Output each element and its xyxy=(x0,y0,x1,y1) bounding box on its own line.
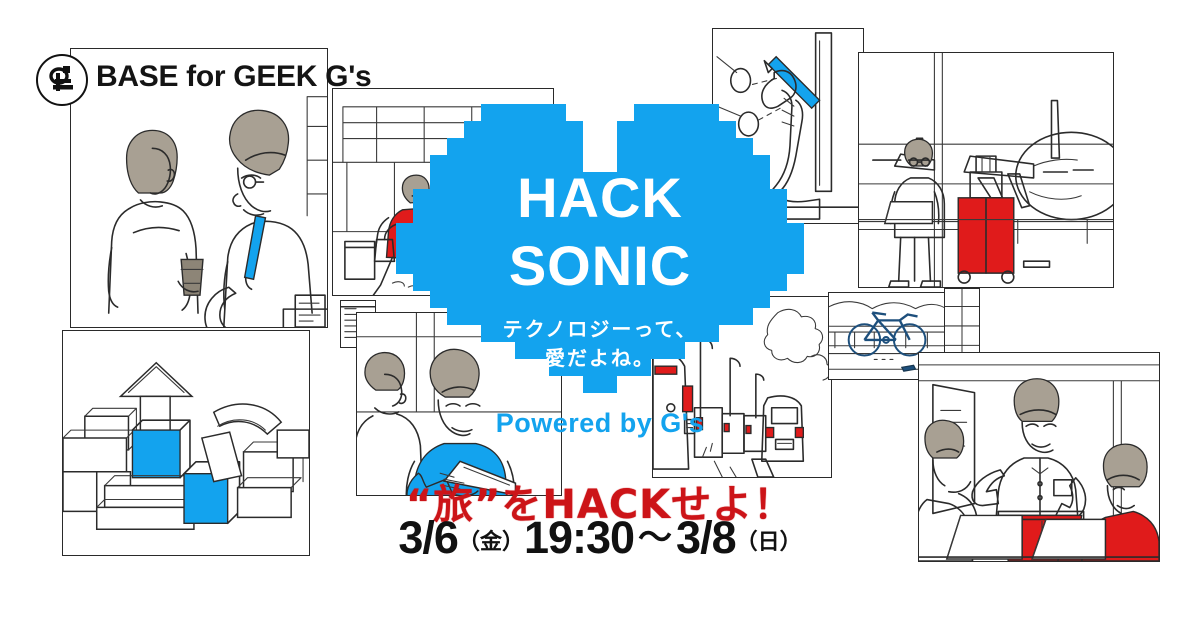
start-day: （金） xyxy=(458,530,524,555)
person-walking-illustration xyxy=(333,89,553,295)
gs-logo-icon xyxy=(45,63,79,97)
tile-traffic-jam xyxy=(652,296,832,478)
traffic-jam-illustration xyxy=(653,297,831,477)
start-time: 19:30 xyxy=(524,512,634,563)
poster-canvas: BASE for GEEK G's xyxy=(0,0,1200,630)
tile-shelf-panel xyxy=(944,288,980,360)
schedule-bar: 3/6（金）19:30〜3/8（日） xyxy=(0,512,1200,564)
shelf-panel-illustration xyxy=(945,289,979,359)
pair-programming-illustration xyxy=(357,313,561,495)
base-title: BASE for GEEK G's xyxy=(96,60,371,94)
tile-pair-programming xyxy=(356,312,562,496)
start-date: 3/6 xyxy=(398,512,458,563)
gs-logo-badge[interactable] xyxy=(36,54,88,106)
powered-by-label: Powered by G's xyxy=(0,408,1200,439)
end-date: 3/8 xyxy=(676,512,736,563)
schedule-separator: 〜 xyxy=(634,519,676,557)
tile-hand-writing-board xyxy=(712,28,864,224)
airport-illustration xyxy=(859,53,1113,287)
hand-writing-illustration xyxy=(713,29,863,223)
tile-airport-suitcase xyxy=(858,52,1114,288)
tile-person-walking-lobby xyxy=(332,88,554,296)
end-day: （日） xyxy=(736,530,802,555)
